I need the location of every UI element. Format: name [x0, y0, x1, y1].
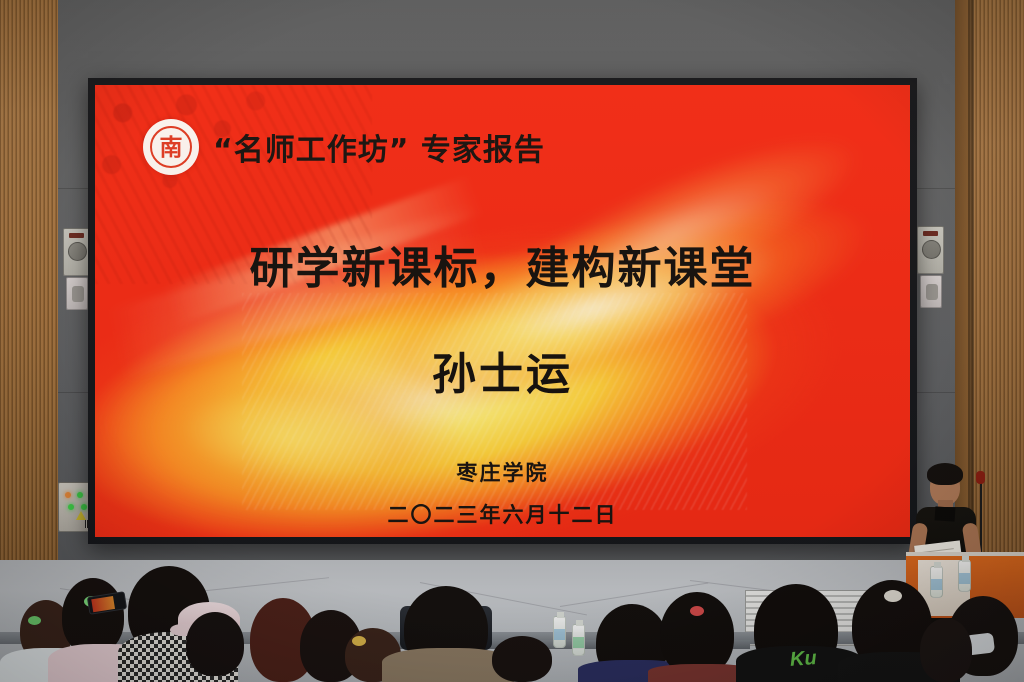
slide-date: 二〇二三年六月十二日: [95, 499, 910, 529]
dial-knob[interactable]: [68, 242, 87, 261]
hair-clip: [352, 636, 366, 646]
indicator-led: [69, 233, 84, 238]
projection-screen: 南 “名师工作坊” 专家报告 研学新课标，建构新课堂 孙士运 枣庄学院 二〇二三…: [95, 85, 910, 537]
hair-clip: [884, 590, 902, 602]
bottle-label: [554, 629, 565, 640]
projection-screen-bezel: 南 “名师工作坊” 专家报告 研学新课标，建构新课堂 孙士运 枣庄学院 二〇二三…: [88, 78, 917, 544]
wall-speaker-left: [66, 277, 88, 310]
water-bottle: [553, 616, 566, 648]
wood-slat-panel-left: [0, 0, 58, 572]
bottle-cap: [557, 612, 564, 618]
water-bottle: [572, 624, 585, 656]
slide-organization: 枣庄学院: [95, 457, 910, 487]
slide-speaker-name: 孙士运: [95, 338, 910, 402]
slide-main-title: 研学新课标，建构新课堂: [95, 232, 910, 296]
presenter-hair: [927, 463, 963, 485]
audience-head: [186, 612, 244, 676]
hair-clip: [28, 616, 41, 625]
presenter-collar: [935, 506, 956, 521]
hair-clip: [690, 606, 704, 616]
status-lamp-green-2: [68, 504, 74, 510]
logo-ring-icon: 南: [150, 126, 192, 168]
wall-control-unit-left[interactable]: [63, 228, 90, 276]
logo-seal-character: 南: [160, 136, 183, 159]
lecture-hall-photo: 南 “名师工作坊” 专家报告 研学新课标，建构新课堂 孙士运 枣庄学院 二〇二三…: [0, 0, 1024, 682]
speaker-grill-icon: [926, 284, 938, 300]
status-lamp-orange: [65, 492, 71, 498]
warning-triangle-icon: [76, 511, 86, 520]
indicator-led: [923, 231, 938, 236]
shirt-logo-text: Ku: [789, 647, 817, 672]
bottle-label: [931, 579, 942, 590]
university-logo: 南: [143, 119, 199, 175]
slide-content: 南 “名师工作坊” 专家报告 研学新课标，建构新课堂 孙士运 枣庄学院 二〇二三…: [95, 85, 910, 537]
microphone-icon: [976, 471, 985, 484]
bottle-cap: [962, 556, 969, 562]
dial-knob[interactable]: [922, 240, 941, 259]
wall-control-unit-right[interactable]: [917, 226, 944, 274]
water-bottle: [958, 560, 971, 592]
bottle-label: [959, 573, 970, 584]
speaker-grill-icon: [72, 286, 84, 302]
water-bottle: [930, 566, 943, 598]
bottle-cap: [934, 562, 941, 568]
slide-header: 南 “名师工作坊” 专家报告: [143, 119, 545, 175]
status-lamp-green: [77, 492, 83, 498]
slide-header-title: “名师工作坊” 专家报告: [213, 125, 545, 169]
bottle-cap: [576, 620, 583, 626]
phone-screen: [91, 596, 115, 612]
bottle-label: [573, 637, 584, 648]
wall-speaker-right: [920, 275, 942, 308]
audience-head: [492, 636, 552, 682]
status-lamp-green-3: [81, 504, 87, 510]
audience-head: [920, 618, 972, 682]
audience-head: [62, 578, 124, 654]
